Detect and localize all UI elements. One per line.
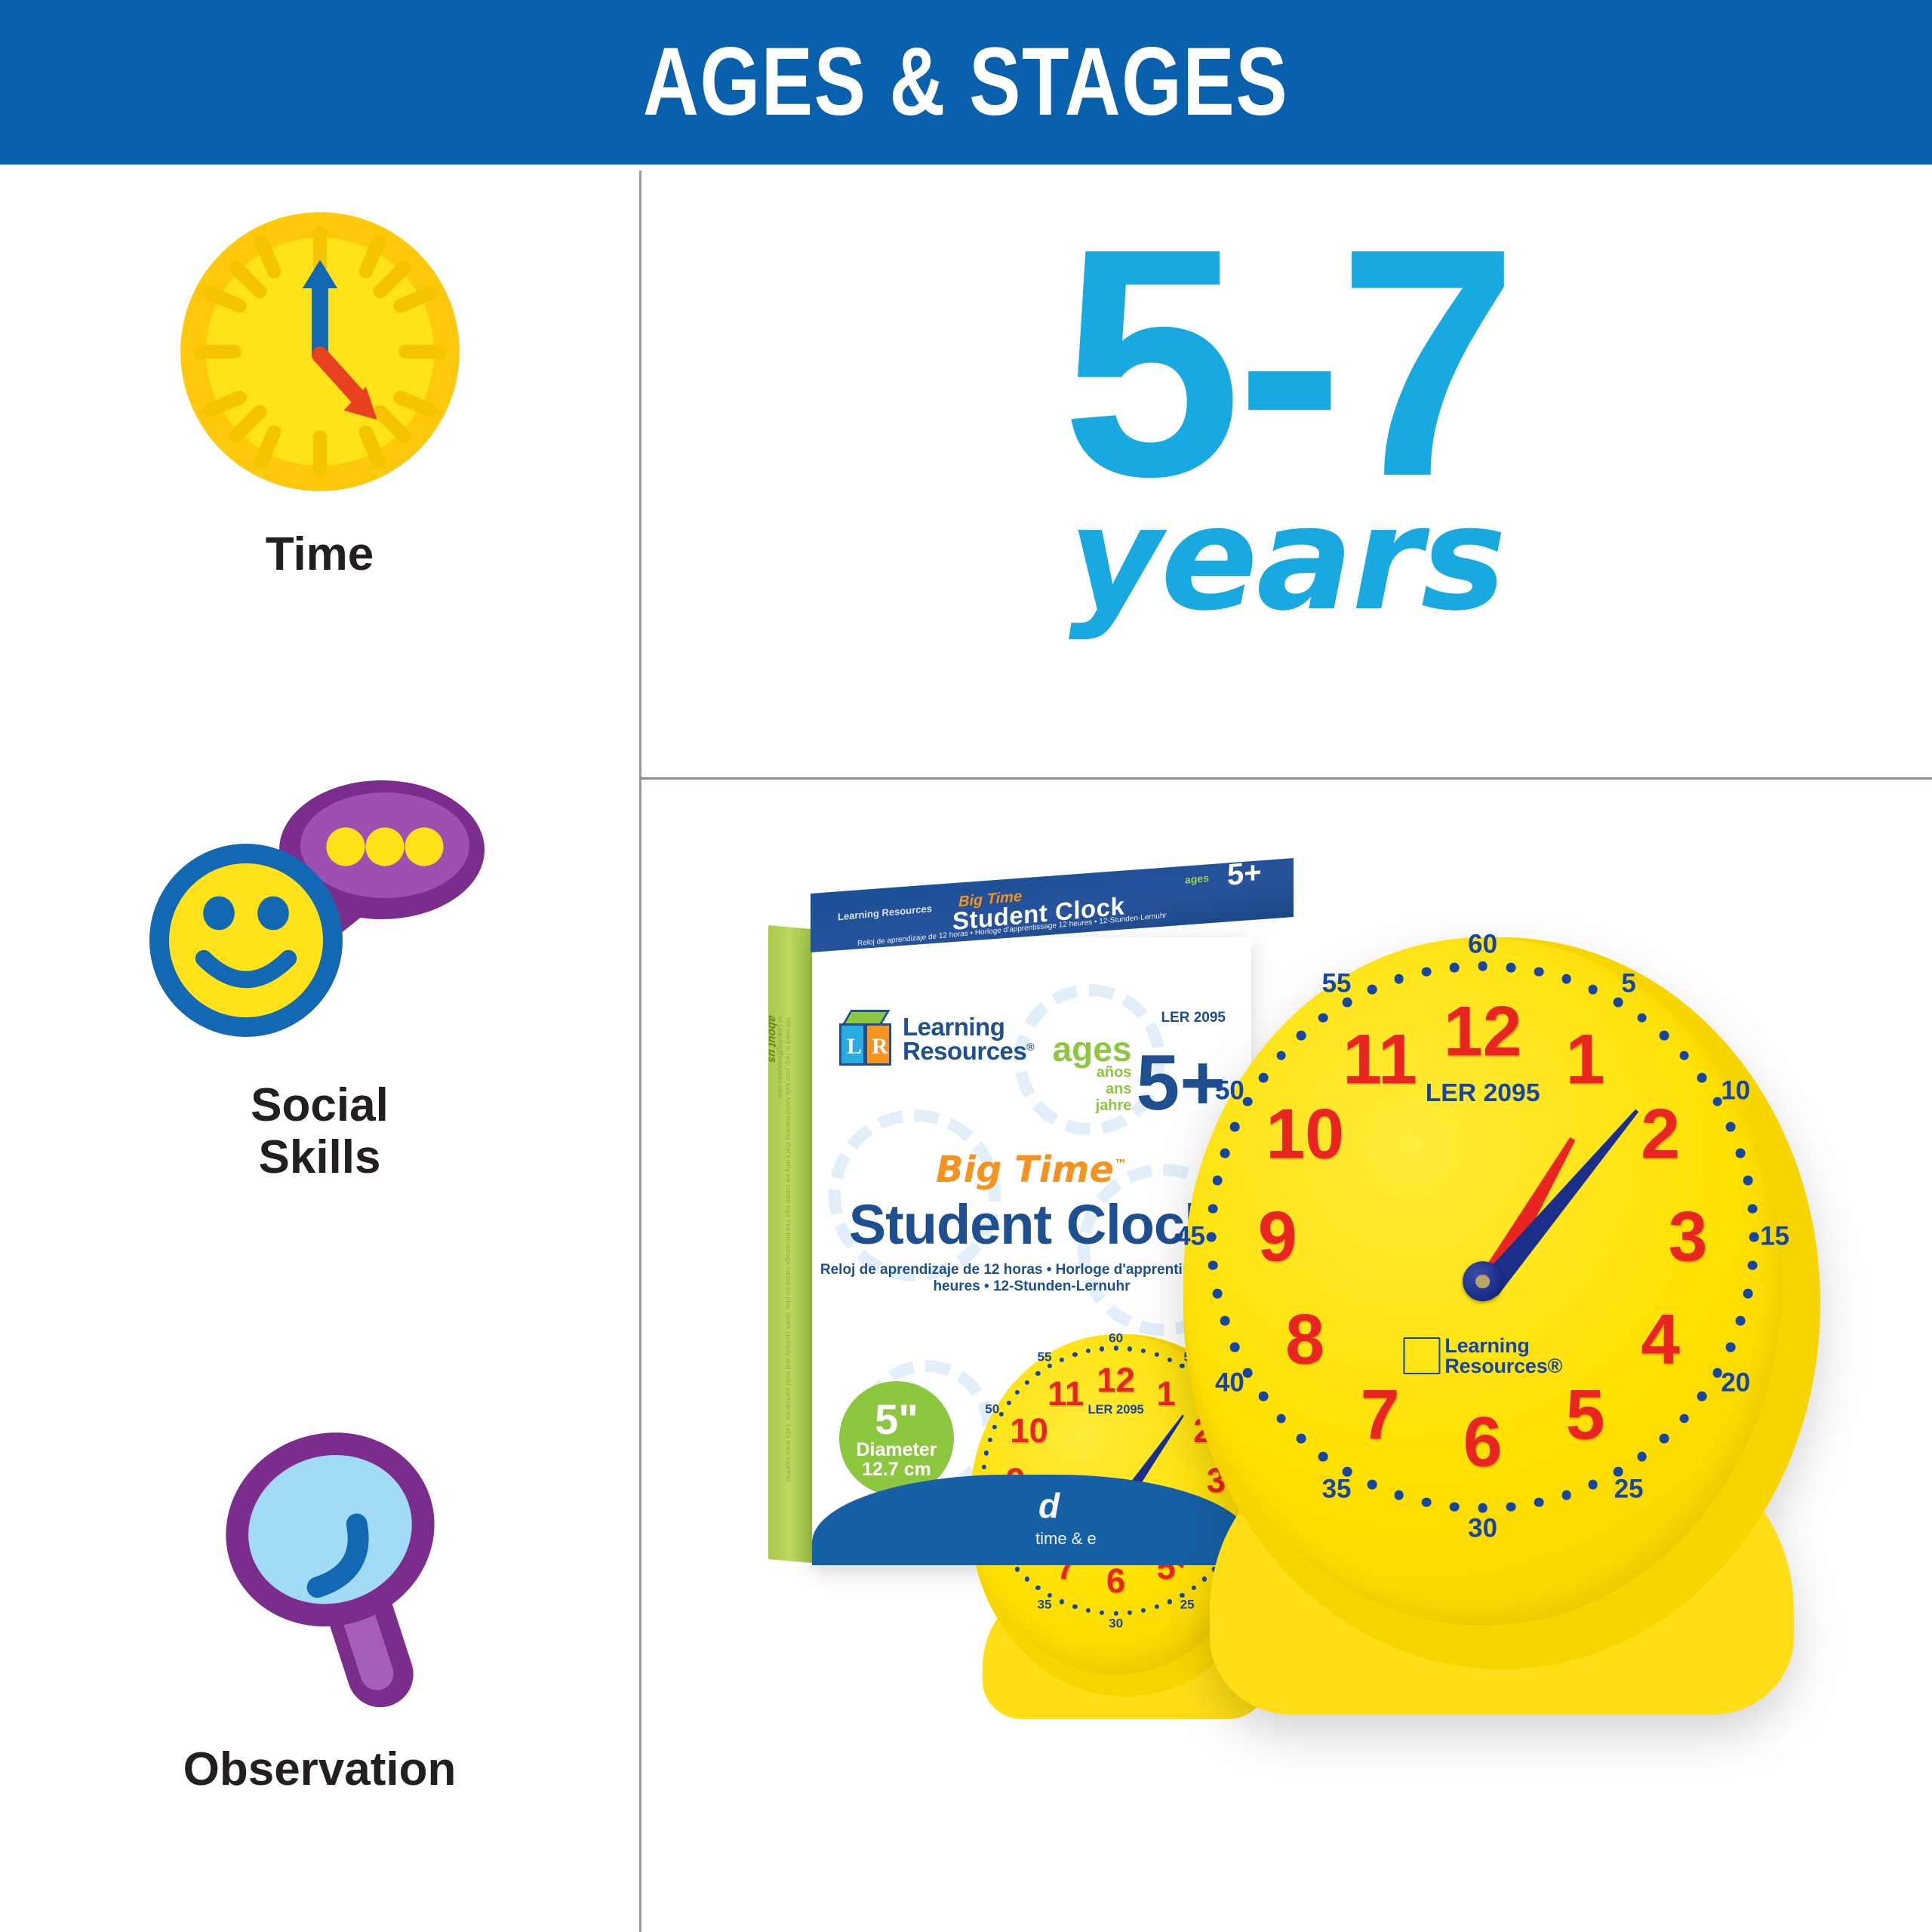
feature-observation: Observation [0,1408,639,1795]
box-spine-body: We want to help your kids found learning… [776,1017,793,1486]
minute-dot [1748,1204,1758,1214]
minute-dot [1220,1149,1230,1158]
minute-dot [1748,1260,1758,1270]
minute-dot [1725,1343,1735,1352]
minute-number: 20 [1721,1370,1750,1396]
minute-dot [988,1438,992,1442]
minute-dot [1478,961,1487,971]
lid-ages-value: 5+ [1227,856,1262,893]
minute-number: 40 [1215,1370,1244,1396]
minute-dot [1035,1586,1040,1590]
minute-number: 30 [1468,1516,1497,1543]
minute-dot [1422,967,1432,977]
hour-number: 4 [1641,1305,1680,1375]
minute-dot [1276,1051,1286,1060]
minute-dot [1086,1349,1091,1353]
minute-dot [1679,1414,1689,1423]
hour-number: 9 [1258,1202,1297,1272]
minute-number: 25 [1614,1477,1644,1503]
hour-number: 6 [1463,1407,1503,1477]
minute-dot [1006,1401,1011,1405]
minute-dot [1318,1451,1328,1461]
minute-dot [1561,1491,1571,1500]
minute-number: 5 [1621,971,1635,998]
minute-dot [1736,1149,1746,1158]
box-ages-label: ages [1053,1034,1132,1065]
clock-item-number: LER 2095 [1426,1078,1540,1108]
minute-dot [1072,1604,1077,1609]
magnifying-glass-icon [0,1408,639,1725]
minute-number: 45 [1176,1224,1205,1251]
hour-number: 3 [1669,1202,1708,1272]
minute-dot [1736,1316,1746,1326]
minute-dot [1213,1289,1223,1299]
minute-dot [1276,1414,1286,1423]
minute-dot [1060,1599,1064,1604]
minute-dot [982,1465,986,1469]
clock-face: 12123456789101160510152025303540455055LE… [1183,937,1783,1625]
minute-dot [1534,967,1544,977]
infographic-page: AGES & STAGES [0,0,1932,1932]
hour-number: 7 [1361,1380,1400,1450]
registered-mark: ® [1026,1041,1034,1053]
minute-number: 30 [1109,1617,1123,1630]
hour-number: 12 [1444,997,1522,1067]
hour-number: 10 [1266,1100,1344,1170]
clock-brand-name: LearningResources® [1444,1336,1562,1376]
feature-time: Time [0,193,639,580]
clock-brand: LearningResources® [1403,1336,1562,1376]
product-photo-panel: about us We want to help your kids found… [641,780,1932,1932]
minute-dot [1660,1434,1669,1444]
minute-dot [1343,998,1352,1008]
minute-dot [1060,1357,1064,1361]
clock-edge: 12123456789101160510152025303540455055LE… [1183,937,1821,1669]
minute-dot [1015,1567,1020,1571]
box-sub-brand-text: Big Time [936,1149,1114,1191]
hour-number: 12 [1097,1363,1135,1398]
smiley-speech-bubble-icon [0,759,639,1061]
hour-number: 10 [1010,1414,1048,1448]
badge-label: Diameter [857,1441,937,1460]
horizontal-divider [639,777,1932,780]
feature-label-time: Time [0,528,639,580]
minute-dot [1561,974,1571,984]
social-label-line2: Skills [0,1131,639,1183]
minute-number: 15 [1760,1224,1789,1251]
minute-dot [1297,1434,1306,1444]
page-title: AGES & STAGES [643,34,1288,131]
minute-dot [1100,1610,1104,1614]
minute-dot [1213,1176,1223,1186]
minute-dot [1208,1204,1218,1214]
clock-icon [0,193,639,510]
box-footer-tagline: time & e [1035,1529,1097,1549]
social-label-line1: Social [0,1079,639,1131]
minute-dot [1141,1608,1146,1613]
feature-label-social-skills: Social Skills [0,1079,639,1184]
minute-dot [1450,1502,1460,1512]
ages-panel: 5-7 years [641,171,1932,777]
hour-number: 11 [1343,1024,1417,1094]
minute-dot [1259,1392,1269,1401]
student-clock-product: 12123456789101160510152025303540455055LE… [1170,922,1834,1684]
minute-number: 35 [1038,1598,1052,1611]
minute-dot [1100,1346,1104,1351]
hour-number: 5 [1566,1380,1605,1450]
minute-number: 55 [1038,1351,1052,1364]
minute-dot [1259,1073,1269,1083]
minute-dot [1660,1031,1669,1041]
lr-cube-icon: L R [838,1010,894,1069]
lr-cube-icon [1403,1337,1441,1375]
minute-dot [1207,1232,1217,1242]
minute-dot [1394,974,1404,984]
minute-number: 60 [1468,932,1497,958]
minute-dot [1394,1491,1404,1500]
minute-dot [1015,1389,1020,1394]
minute-dot [1141,1349,1146,1353]
features-column: Time [0,171,639,1932]
minute-dot [1697,1073,1707,1083]
feature-label-observation: Observation [0,1743,639,1795]
minute-number: 10 [1721,1078,1750,1104]
minute-dot [1534,1497,1544,1507]
minute-dot [984,1451,989,1455]
minute-dot [998,1412,1003,1417]
minute-dot [1637,1013,1647,1023]
minute-dot [1697,1392,1707,1401]
minute-dot [1506,1502,1516,1512]
box-ages-fr: ans [1053,1081,1132,1098]
minute-dot [1155,1352,1159,1357]
minute-dot [1743,1176,1753,1186]
minute-dot [1422,1497,1432,1507]
minute-dot [1725,1122,1735,1132]
age-unit: years [641,488,1932,631]
box-brand-name: LearningResources® [903,1015,1034,1063]
clock-item-number: LER 2095 [1088,1403,1143,1417]
minute-dot [1743,1289,1753,1299]
hour-number: 8 [1285,1305,1324,1375]
minute-dot [1113,1346,1118,1350]
minute-dot [1113,1611,1118,1615]
minute-dot [1450,963,1460,973]
cube-letter-l: L [847,1035,862,1058]
minute-dot [1128,1346,1132,1351]
minute-number: 50 [1215,1078,1244,1104]
minute-dot [1243,1367,1253,1377]
minute-dot [1086,1608,1091,1613]
minute-dot [1230,1122,1240,1132]
minute-dot [992,1424,997,1429]
box-brand-logo: L R LearningResources® [838,1010,1034,1069]
feature-social-skills: Social Skills [0,759,639,1184]
hour-number: 2 [1641,1100,1680,1170]
box-spine: about us We want to help your kids found… [768,925,815,1563]
minute-dot [1367,1480,1377,1490]
badge-metric: 12.7 cm [862,1460,931,1480]
cube-letter-r: R [872,1035,888,1058]
minute-dot [1025,1380,1029,1384]
lid-ages-label: ages [1185,872,1209,886]
minute-dot [1297,1031,1306,1041]
minute-dot [1749,1232,1759,1242]
box-footer-word: d [1038,1485,1060,1526]
minute-dot [1614,998,1623,1008]
trademark-mark: ™ [1114,1157,1128,1173]
header-banner: AGES & STAGES [0,0,1932,165]
minute-dot [1588,1480,1598,1490]
minute-dot [1048,1364,1052,1368]
minute-number: 50 [985,1403,999,1416]
minute-dot [1637,1451,1647,1461]
minute-dot [1679,1051,1689,1060]
minute-dot [1588,985,1598,995]
hour-number: 6 [1106,1564,1125,1598]
minute-dot [1208,1260,1218,1270]
minute-dot [1478,1503,1487,1513]
minute-dot [1072,1352,1077,1357]
minute-number: 35 [1322,1477,1352,1503]
minute-number: 60 [1109,1331,1123,1344]
minute-dot [1128,1610,1132,1614]
box-ages-de: jahre [1053,1098,1132,1115]
minute-dot [1230,1343,1240,1352]
minute-dot [1318,1013,1328,1023]
minute-dot [1035,1371,1040,1376]
lid-brand: Learning Resources [838,903,932,922]
badge-size: 5" [875,1398,918,1441]
minute-dot [1243,1097,1253,1106]
minute-dot [1506,963,1516,973]
hour-number: 1 [1566,1024,1605,1094]
minute-dot [1367,985,1377,995]
minute-dot [1025,1577,1029,1581]
minute-number: 55 [1322,971,1352,998]
minute-dot [1155,1604,1159,1609]
minute-dot [1220,1316,1230,1326]
hour-number: 11 [1048,1377,1084,1411]
clock-center-pin [1463,1261,1503,1302]
